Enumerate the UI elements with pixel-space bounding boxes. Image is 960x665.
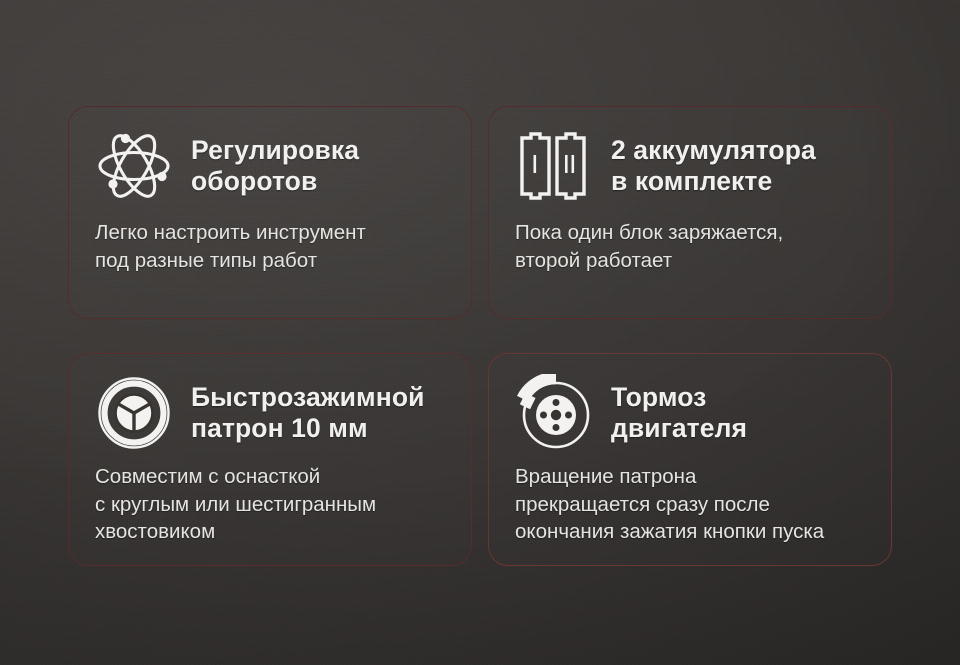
card-description: Совместим с оснасткой с круглым или шест… xyxy=(95,463,447,546)
card-header: 2 аккумулятора в комплекте xyxy=(515,127,867,205)
card-title: Регулировка оборотов xyxy=(191,135,359,197)
feature-card-motor-brake: Тормоз двигателя Вращение патрона прекра… xyxy=(488,353,892,566)
feature-card-two-batteries: 2 аккумулятора в комплекте Пока один бло… xyxy=(488,106,892,319)
atom-icon xyxy=(95,127,173,205)
card-header: Регулировка оборотов xyxy=(95,127,447,205)
feature-poster: Регулировка оборотов Легко настроить инс… xyxy=(0,0,960,665)
card-header: Тормоз двигателя xyxy=(515,374,867,452)
card-title: 2 аккумулятора в комплекте xyxy=(611,135,816,197)
card-description: Вращение патрона прекращается сразу посл… xyxy=(515,463,867,546)
feature-card-speed-control: Регулировка оборотов Легко настроить инс… xyxy=(68,106,472,319)
card-description: Легко настроить инструмент под разные ти… xyxy=(95,219,447,274)
feature-card-keyless-chuck: Быстрозажимной патрон 10 мм Совместим с … xyxy=(68,353,472,566)
drill-chuck-icon xyxy=(95,374,173,452)
card-title: Тормоз двигателя xyxy=(611,382,747,444)
feature-card-grid: Регулировка оборотов Легко настроить инс… xyxy=(68,106,892,566)
brake-disc-icon xyxy=(515,374,593,452)
card-header: Быстрозажимной патрон 10 мм xyxy=(95,374,447,452)
two-batteries-icon xyxy=(515,127,593,205)
card-description: Пока один блок заряжается, второй работа… xyxy=(515,219,867,274)
card-title: Быстрозажимной патрон 10 мм xyxy=(191,382,425,444)
